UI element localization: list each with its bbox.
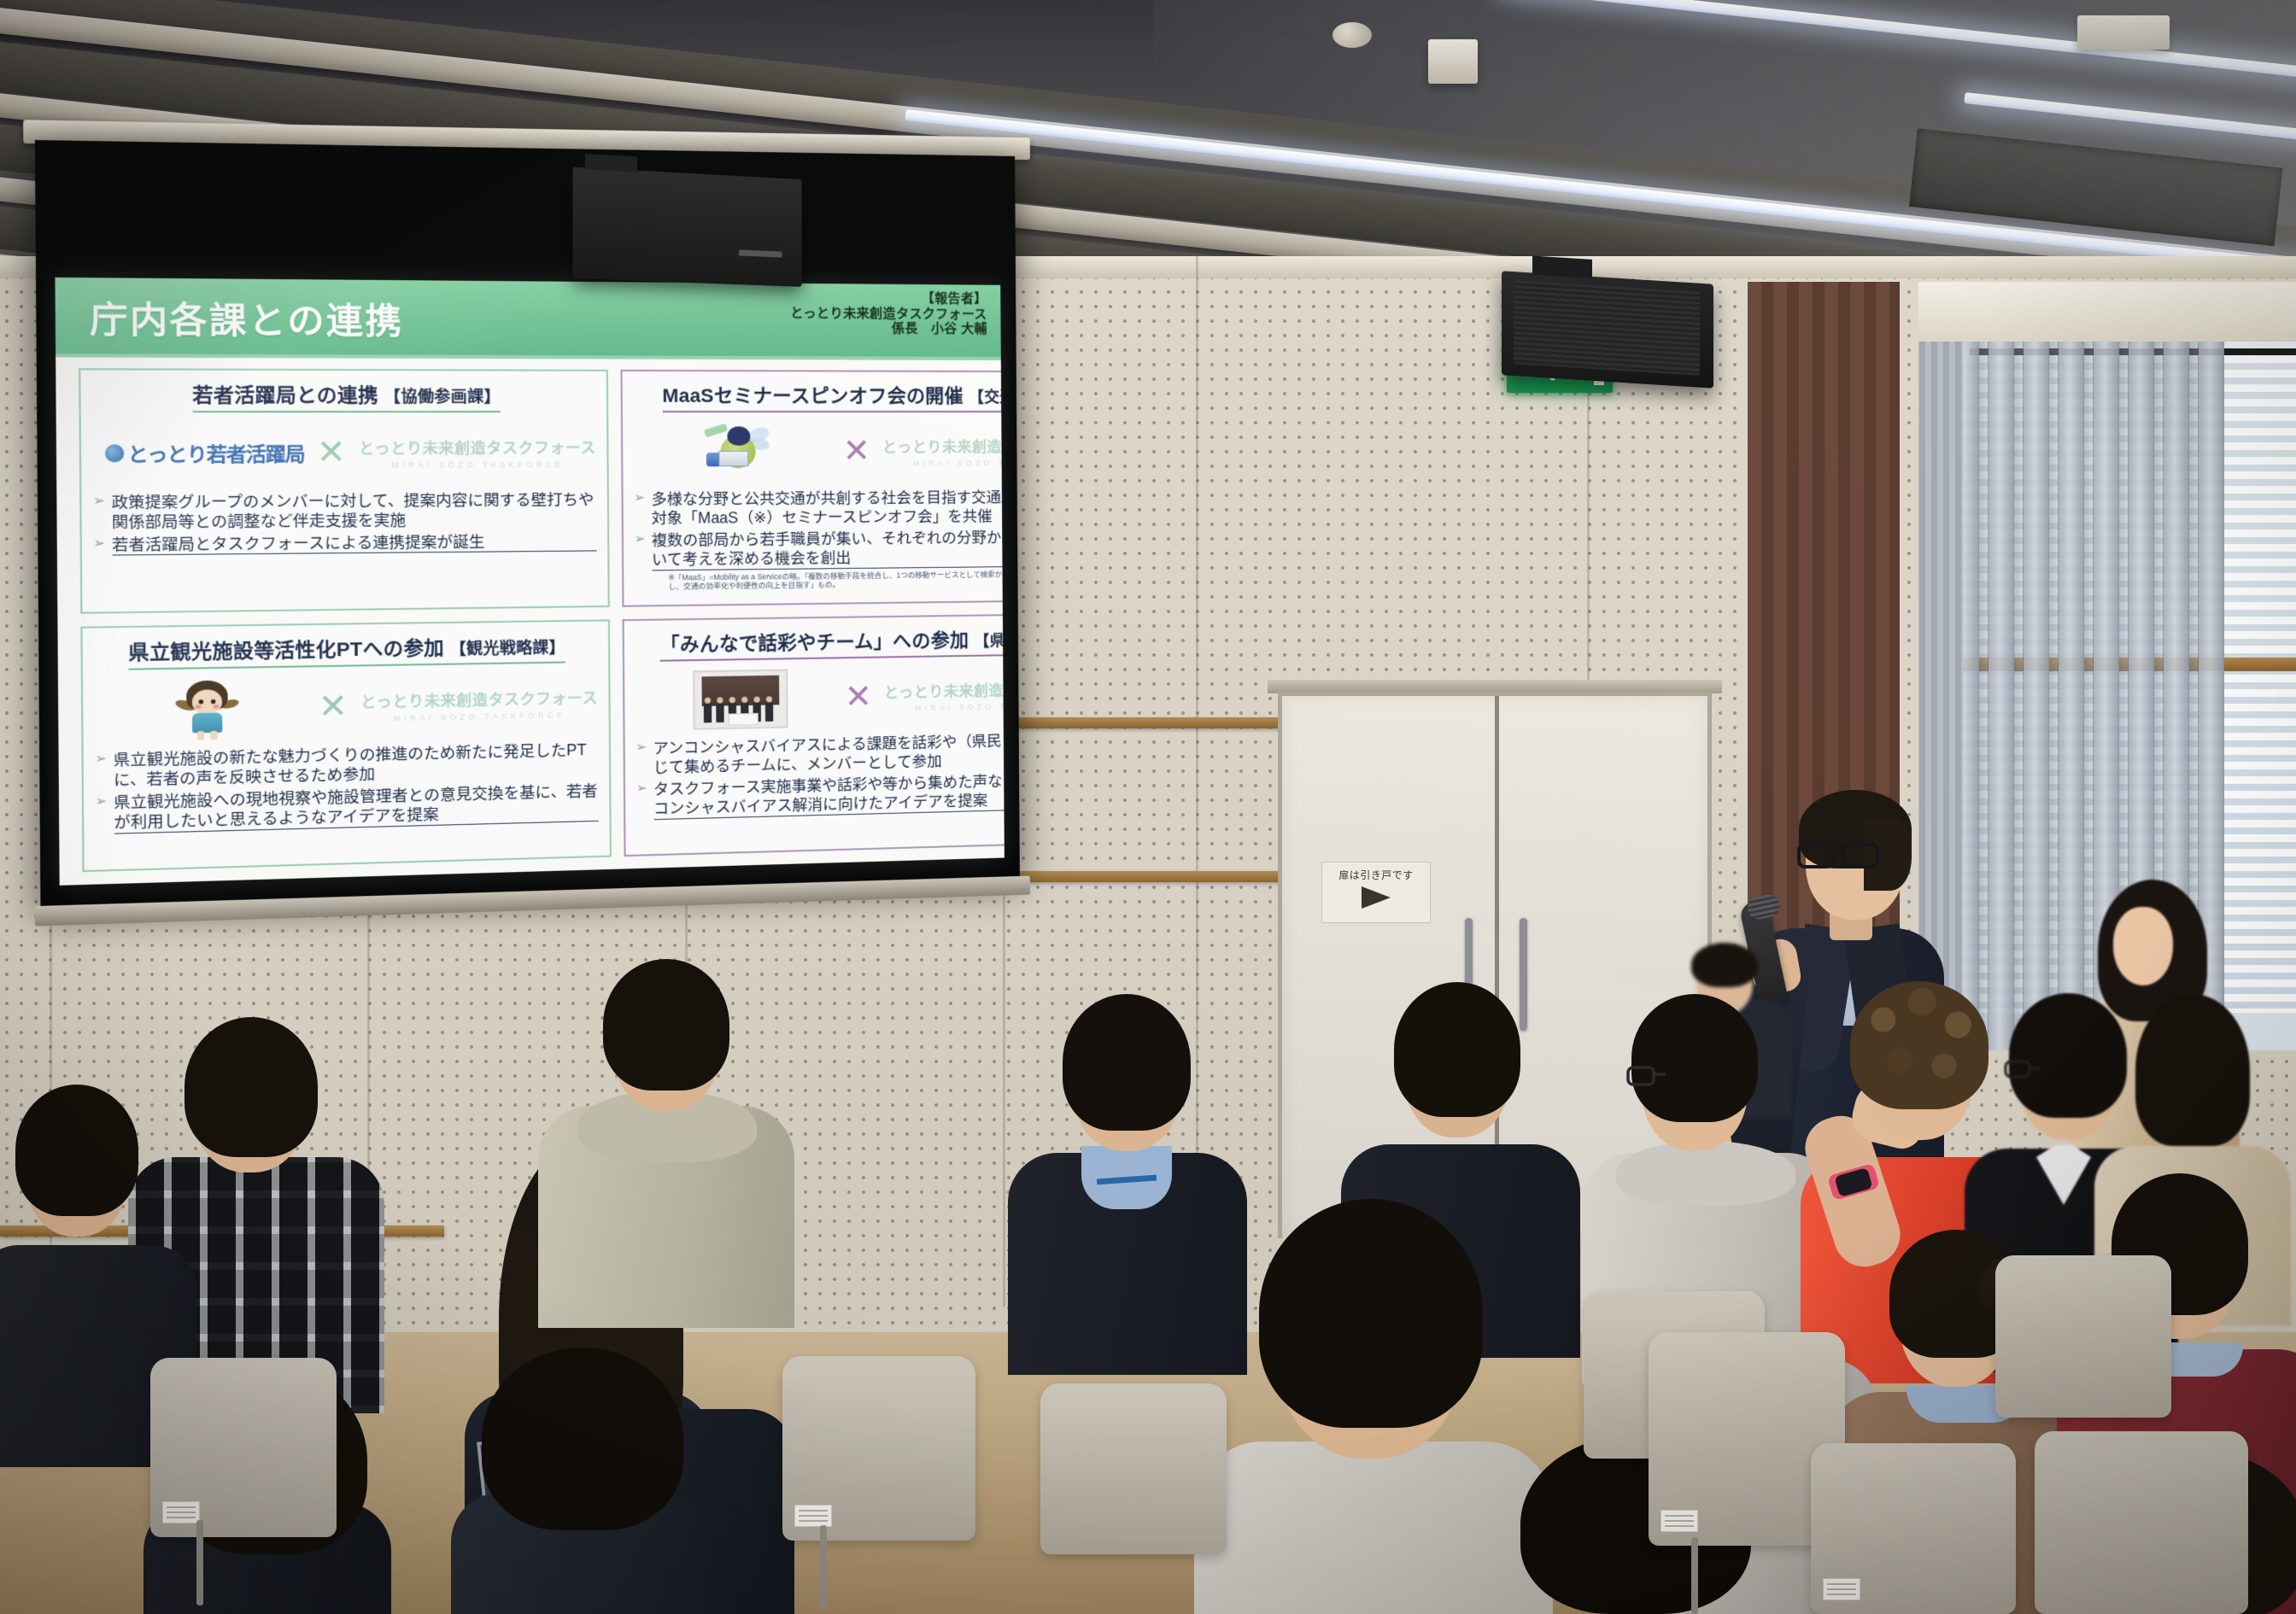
youth-logo-mark-icon xyxy=(105,444,124,462)
tottori-youth-logo: とっとり若者活躍局 xyxy=(105,439,305,468)
chair-label xyxy=(794,1505,832,1527)
taskforce-logo: とっとり未来創造タスクフォース MIRAI SOZO TASKFORCE xyxy=(359,436,596,470)
door-sign-text: 扉は引き戸です xyxy=(1326,868,1426,882)
youth-logo-text: とっとり若者活躍局 xyxy=(127,439,304,468)
slide-card-grid: 若者活躍局との連携 【協働参画課】 とっとり若者活躍局 xyxy=(79,368,984,872)
card-bullet: ➢ 複数の部局から若手職員が集い、それぞれの分野から公共交通について考えを深める… xyxy=(634,527,1004,570)
chair-label xyxy=(1823,1578,1860,1600)
bullet-arrow-icon: ➢ xyxy=(635,739,647,778)
wall-rail xyxy=(991,871,1298,882)
reporter-org: とっとり未来創造タスクフォース xyxy=(790,306,987,322)
glasses-icon xyxy=(2004,1058,2059,1082)
card-heading: 県立観光施設等活性化PTへの参加 【観光戦略課】 xyxy=(128,630,565,670)
seminar-hall-photo: 扉は引き戸です 庁内各課との連携 【報告者】 とっとり未来創造タスクフ xyxy=(0,0,2296,1614)
reporter-name: 係長 小谷 大輔 xyxy=(790,321,987,337)
presentation-slide: 庁内各課との連携 【報告者】 とっとり未来創造タスクフォース 係長 小谷 大輔 … xyxy=(55,278,1004,886)
taskforce-logo-en: MIRAI SOZO TASKFORCE xyxy=(392,460,565,470)
cross-symbol-icon: ✕ xyxy=(843,435,871,467)
taskforce-logo: とっとり未来創造タスクフォース MIRAI SOZO TASKFORCE xyxy=(360,686,598,724)
audience-member xyxy=(1194,1185,1553,1614)
taskforce-logo-en: MIRAI SOZO TASKFORCE xyxy=(394,711,566,722)
taskforce-logo-jp: とっとり未来創造タスクフォース xyxy=(884,676,1004,702)
card-logo-row: とっとり若者活躍局 ✕ とっとり未来創造タスクフォース MIRAI SOZO T… xyxy=(92,416,596,490)
chair[interactable] xyxy=(150,1358,337,1537)
bee-mascot-icon xyxy=(700,423,776,480)
assistant-face xyxy=(2113,907,2173,985)
bullet-arrow-icon: ➢ xyxy=(93,492,105,533)
hood xyxy=(1616,1141,1795,1206)
card-logo-row: ✕ とっとり未来創造タスクフォース MIRAI SOZO TASKFORCE xyxy=(633,416,1004,488)
cross-symbol-icon: ✕ xyxy=(316,436,346,470)
audience-hair xyxy=(184,1017,318,1157)
cross-symbol-icon: ✕ xyxy=(318,690,348,724)
card-department: 【協働参画課】 xyxy=(384,388,501,406)
bullet-arrow-icon: ➢ xyxy=(635,780,647,820)
cross-symbol-icon: ✕ xyxy=(845,681,873,714)
glasses-icon xyxy=(1795,839,1898,872)
chair[interactable] xyxy=(1995,1255,2171,1418)
chair[interactable] xyxy=(1811,1443,2016,1614)
taskforce-logo-en: MIRAI SOZO TASKFORCE xyxy=(915,701,1004,713)
taskforce-logo: とっとり未来創造タスクフォース MIRAI SOZO TASKFORCE xyxy=(882,435,1004,468)
girl-mascot-icon xyxy=(173,676,242,742)
ceiling-speaker xyxy=(573,167,802,287)
card-logo-row: ✕ とっとり未来創造タスクフォース MIRAI SOZO TASKFORCE xyxy=(635,658,1004,737)
card-department: 【観光戦略課】 xyxy=(450,639,565,658)
reporter-credit: 【報告者】 とっとり未来創造タスクフォース 係長 小谷 大輔 xyxy=(790,290,987,337)
chair[interactable] xyxy=(2035,1431,2248,1614)
ceiling-fixture xyxy=(1428,39,1478,84)
bullet-arrow-icon: ➢ xyxy=(95,792,107,834)
bullet-arrow-icon: ➢ xyxy=(93,535,105,556)
chair-label xyxy=(162,1501,200,1523)
audience-hair xyxy=(1259,1199,1483,1428)
slide-card-wasaya-team: 「みんなで話彩やチーム」への参加 【県民運動課】 xyxy=(623,612,1004,857)
card-heading: MaaSセミナースピンオフ会の開催 【交通政策課】 xyxy=(662,380,1004,412)
taskforce-logo-jp: とっとり未来創造タスクフォース xyxy=(882,435,1004,457)
taskforce-logo-en: MIRAI SOZO TASKFORCE xyxy=(913,459,1004,468)
slide-card-youth-bureau: 若者活躍局との連携 【協働参画課】 とっとり若者活躍局 xyxy=(79,368,610,614)
slide-card-maas-seminar: MaaSセミナースピンオフ会の開催 【交通政策課】 xyxy=(620,370,1004,607)
slide-card-tourism-pt: 県立観光施設等活性化PTへの参加 【観光戦略課】 xyxy=(80,619,612,872)
slide-title: 庁内各課との連携 xyxy=(90,290,404,344)
card-heading: 「みんなで話彩やチーム」への参加 【県民運動課】 xyxy=(660,623,1004,662)
chair-label xyxy=(1660,1510,1698,1532)
card-bullet: ➢ 若者活躍局とタスクフォースによる連携提案が誕生 xyxy=(93,531,597,556)
smoke-detector-icon xyxy=(1332,22,1372,48)
chair[interactable] xyxy=(1040,1383,1227,1554)
door-instruction-sign: 扉は引き戸です xyxy=(1321,862,1431,923)
card-heading: 若者活躍局との連携 【協働参画課】 xyxy=(192,379,501,412)
card-bullet: ➢ 政策提案グループのメンバーに対して、提案内容に関する壁打ちや関係部局等との調… xyxy=(93,490,597,533)
taskforce-logo: とっとり未来創造タスクフォース MIRAI SOZO TASKFORCE xyxy=(884,676,1004,713)
card-footnote: ※「MaaS」=Mobility as a Serviceの略。「複数の移動手段… xyxy=(635,568,1004,592)
group-photo-thumbnail xyxy=(693,669,788,729)
ceiling-speaker xyxy=(1502,271,1713,389)
card-bullet: ➢ 多様な分野と公共交通が共創する社会を目指す交通政策課と県職員対象「MaaS（… xyxy=(634,487,1004,529)
light-grey-top xyxy=(1194,1441,1553,1614)
glasses-icon xyxy=(1626,1064,1686,1090)
card-logo-row: ✕ とっとり未来創造タスクフォース MIRAI SOZO TASKFORCE xyxy=(94,666,598,749)
taskforce-logo-jp: とっとり未来創造タスクフォース xyxy=(360,686,598,712)
audience-member xyxy=(451,1348,707,1614)
bullet-arrow-icon: ➢ xyxy=(634,489,645,529)
ceiling-fixture xyxy=(2077,15,2170,50)
taskforce-logo-jp: とっとり未来創造タスクフォース xyxy=(359,436,596,459)
card-department: 【県民運動課】 xyxy=(974,631,1004,650)
card-department: 【交通政策課】 xyxy=(969,389,1004,406)
chair[interactable] xyxy=(782,1356,975,1541)
reporter-label: 【報告者】 xyxy=(790,290,987,307)
ceiling-strip-light xyxy=(1502,0,2296,120)
card-bullet: ➢ アンコンシャスバイアスによる課題を話彩や（県民との対話）を通じて集めるチーム… xyxy=(635,729,1004,778)
projection-screen: 庁内各課との連携 【報告者】 とっとり未来創造タスクフォース 係長 小谷 大輔 … xyxy=(35,140,1020,908)
right-arrow-icon xyxy=(1362,886,1391,909)
bullet-arrow-icon: ➢ xyxy=(634,530,645,570)
ceiling-strip-light xyxy=(1964,92,2296,142)
bullet-arrow-icon: ➢ xyxy=(95,750,107,791)
